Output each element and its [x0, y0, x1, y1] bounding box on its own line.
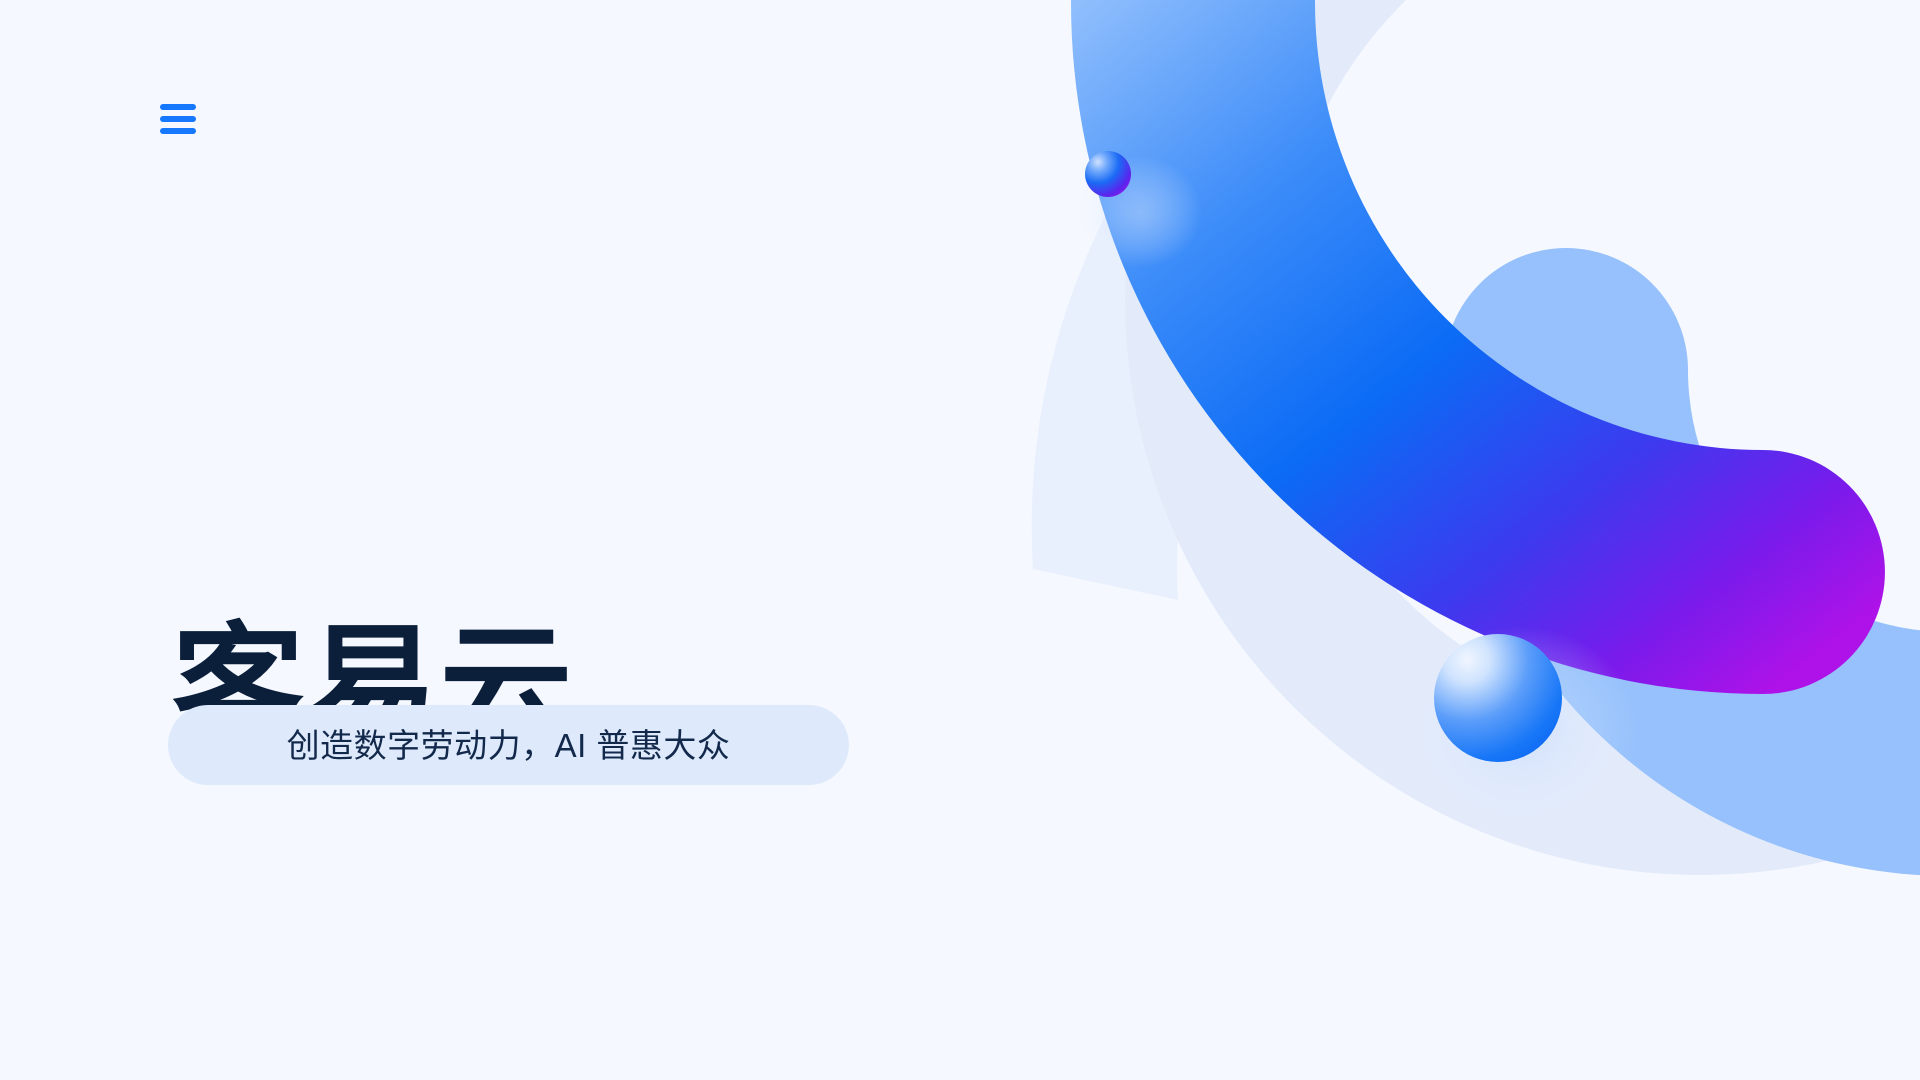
page-title: 客易云 人工智能数字人	[168, 252, 1106, 1080]
slide-canvas: 客易云 人工智能数字人 创造数字劳动力，AI 普惠大众	[0, 0, 1920, 1080]
large-sphere-glow	[1402, 626, 1638, 834]
subtitle-pill: 创造数字劳动力，AI 普惠大众	[168, 705, 849, 785]
large-blue-sphere	[1434, 634, 1562, 762]
hamburger-bar-bottom	[160, 128, 196, 134]
subtitle-text: 创造数字劳动力，AI 普惠大众	[287, 729, 731, 762]
hamburger-bar-top	[160, 104, 196, 110]
hamburger-bar-middle	[160, 116, 196, 122]
small-gradient-sphere	[1085, 151, 1131, 197]
light-blue-inner-arc	[1444, 248, 1920, 876]
hamburger-menu-icon[interactable]	[160, 98, 208, 140]
gradient-ring-arc	[1071, 0, 1885, 694]
pale-background-arc	[1032, 0, 1920, 875]
